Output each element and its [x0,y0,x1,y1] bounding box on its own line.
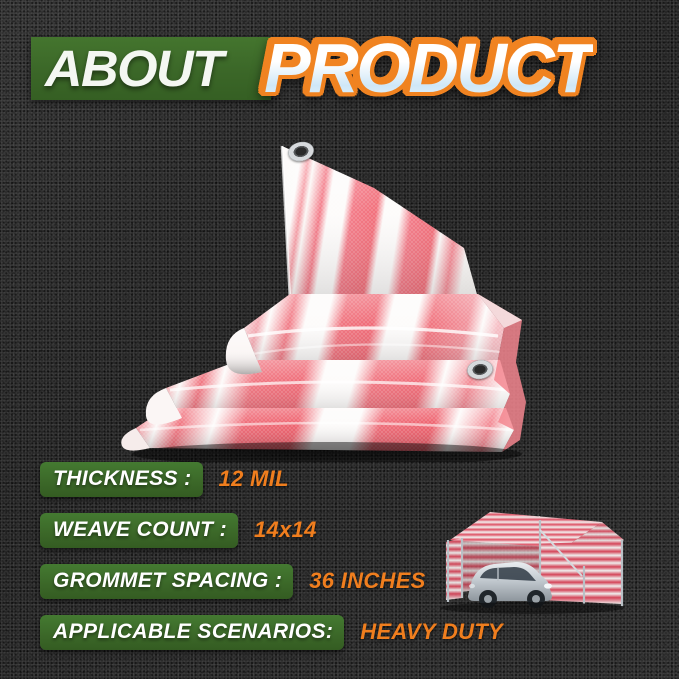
spec-value: HEAVY DUTY [360,619,503,645]
spec-label-pill: APPLICABLE SCENARIOS: [40,615,344,650]
spec-label: GROMMET SPACING : [53,569,282,592]
spec-value: 12 MIL [219,466,289,492]
spec-value: 14x14 [254,517,317,543]
scenario-image-carport [432,500,632,618]
spec-row: THICKNESS : 12 MIL [40,458,640,500]
spec-label-pill: GROMMET SPACING : [40,564,293,599]
spec-label: THICKNESS : [53,467,192,490]
header-title-about: ABOUT [45,40,222,98]
header-title-product: PRODUCT [264,28,593,108]
spec-label: WEAVE COUNT : [53,518,227,541]
spec-label-pill: WEAVE COUNT : [40,513,238,548]
product-image-tarp [112,122,542,462]
spec-value: 36 INCHES [309,568,425,594]
header-banner: ABOUT PRODUCT [0,0,679,130]
carport-illustration [432,500,632,618]
carport-side-wall [540,540,622,604]
product-infographic: ABOUT PRODUCT [0,0,679,679]
tarp-illustration [112,122,542,462]
spec-label-pill: THICKNESS : [40,462,203,497]
spec-label: APPLICABLE SCENARIOS: [53,620,333,643]
